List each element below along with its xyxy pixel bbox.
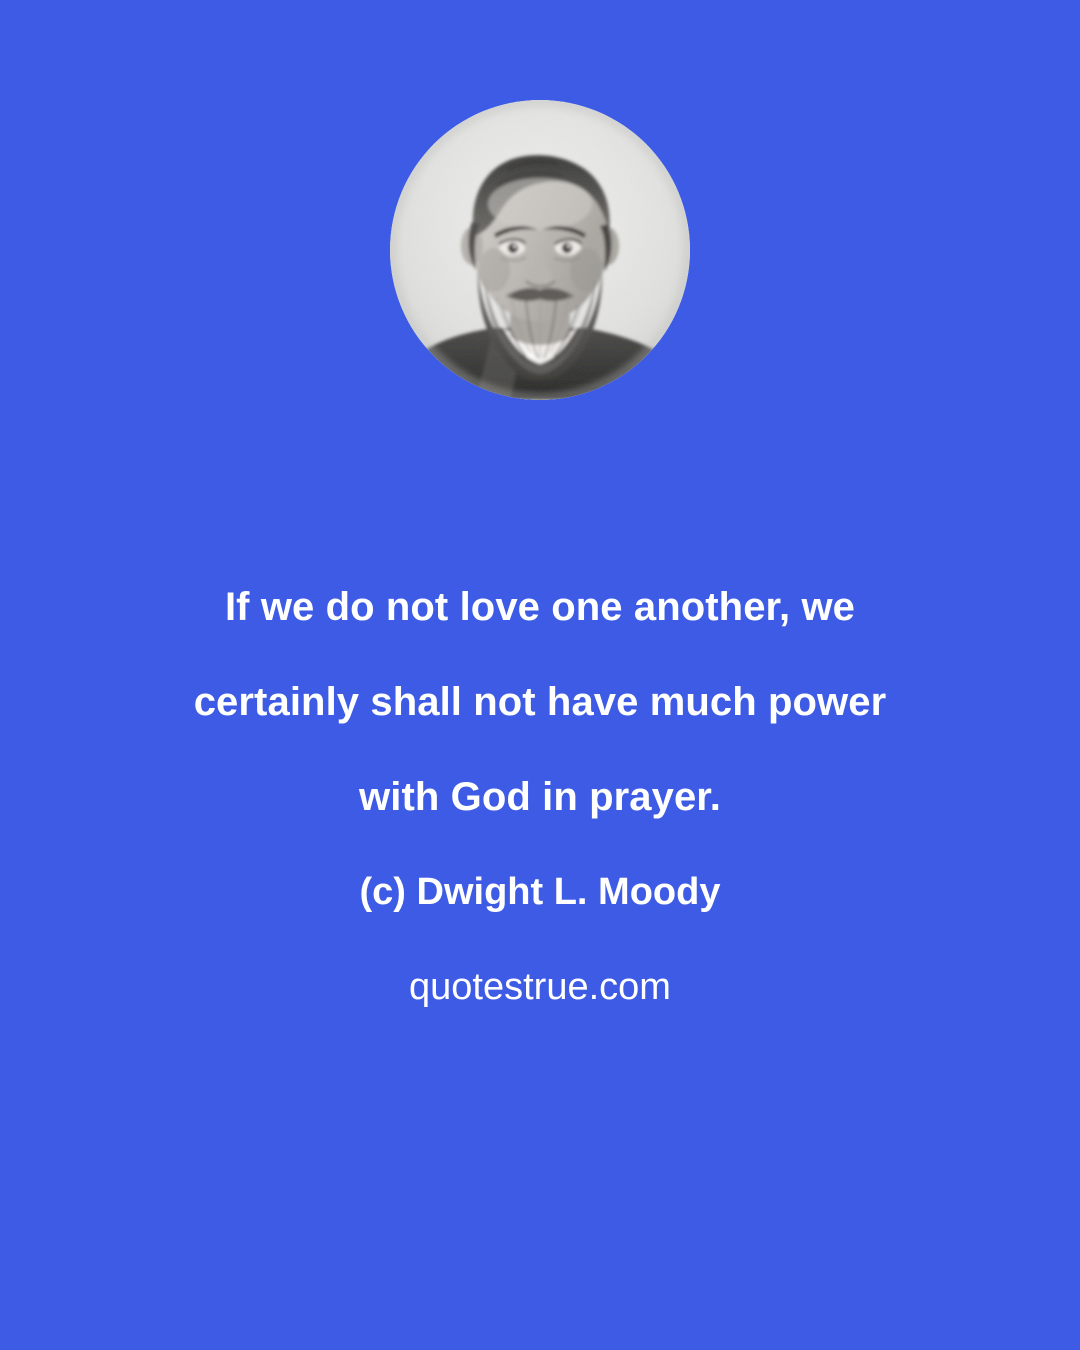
quote-line-1: If we do not love one another, we xyxy=(0,560,1080,655)
quote-card: If we do not love one another, we certai… xyxy=(0,0,1080,1350)
quote-line-2: certainly shall not have much power xyxy=(0,655,1080,750)
quote-line-3: with God in prayer. xyxy=(0,750,1080,845)
site-watermark: quotestrue.com xyxy=(0,940,1080,1035)
quote-text-block: If we do not love one another, we certai… xyxy=(0,560,1080,1035)
portrait-container xyxy=(390,100,690,400)
portrait-photo xyxy=(390,100,690,400)
quote-attribution: (c) Dwight L. Moody xyxy=(0,845,1080,940)
